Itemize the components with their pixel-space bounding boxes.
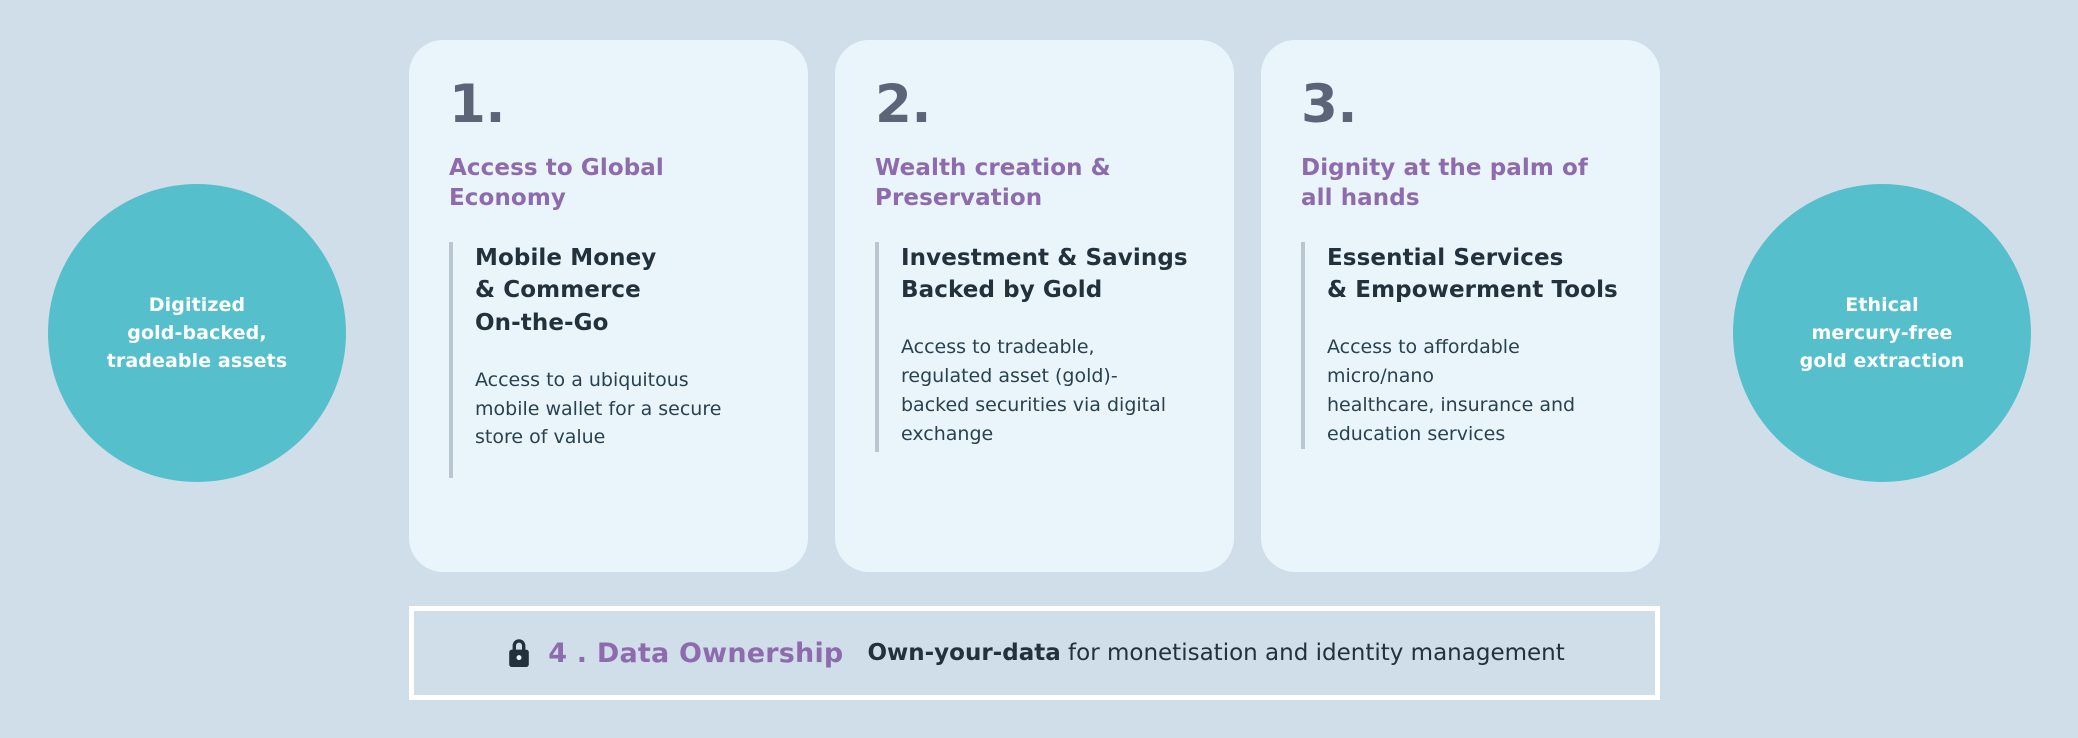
card-1-number: 1.: [449, 78, 768, 131]
card-1-detail: Mobile Money & Commerce On-the-Go Access…: [449, 242, 768, 478]
right-circle-label: Ethical mercury-free gold extraction: [1800, 291, 1965, 375]
card-3[interactable]: 3. Dignity at the palm of all hands Esse…: [1261, 40, 1660, 572]
card-3-title: Dignity at the palm of all hands: [1301, 153, 1620, 214]
data-ownership-tagline-rest: for monetisation and identity management: [1061, 640, 1565, 666]
card-1-detail-body: Access to a ubiquitous mobile wallet for…: [475, 366, 768, 453]
infographic-canvas: Digitized gold-backed, tradeable assets …: [0, 0, 2078, 738]
card-3-number: 3.: [1301, 78, 1620, 131]
card-1-title: Access to Global Economy: [449, 153, 768, 214]
card-2[interactable]: 2. Wealth creation & Preservation Invest…: [835, 40, 1234, 572]
lock-icon: [504, 636, 534, 670]
card-2-detail-body: Access to tradeable, regulated asset (go…: [901, 333, 1194, 449]
data-ownership-title: 4 . Data Ownership: [548, 638, 843, 669]
card-3-detail-body: Access to affordable micro/nano healthca…: [1327, 333, 1620, 449]
data-ownership-tagline: Own-your-data for monetisation and ident…: [867, 640, 1564, 666]
card-3-detail: Essential Services & Empowerment Tools A…: [1301, 242, 1620, 449]
card-2-detail-heading: Investment & Savings Backed by Gold: [901, 242, 1194, 307]
card-2-number: 2.: [875, 78, 1194, 131]
card-1[interactable]: 1. Access to Global Economy Mobile Money…: [409, 40, 808, 572]
data-ownership-tagline-bold: Own-your-data: [867, 640, 1060, 666]
data-ownership-bar[interactable]: 4 . Data Ownership Own-your-data for mon…: [409, 606, 1660, 700]
card-3-detail-heading: Essential Services & Empowerment Tools: [1327, 242, 1620, 307]
card-2-title: Wealth creation & Preservation: [875, 153, 1194, 214]
left-circle-badge: Digitized gold-backed, tradeable assets: [48, 184, 346, 482]
cards-row: 1. Access to Global Economy Mobile Money…: [409, 40, 1660, 572]
right-circle-badge: Ethical mercury-free gold extraction: [1733, 184, 2031, 482]
card-2-detail: Investment & Savings Backed by Gold Acce…: [875, 242, 1194, 452]
left-circle-label: Digitized gold-backed, tradeable assets: [107, 291, 288, 375]
card-1-detail-heading: Mobile Money & Commerce On-the-Go: [475, 242, 768, 340]
